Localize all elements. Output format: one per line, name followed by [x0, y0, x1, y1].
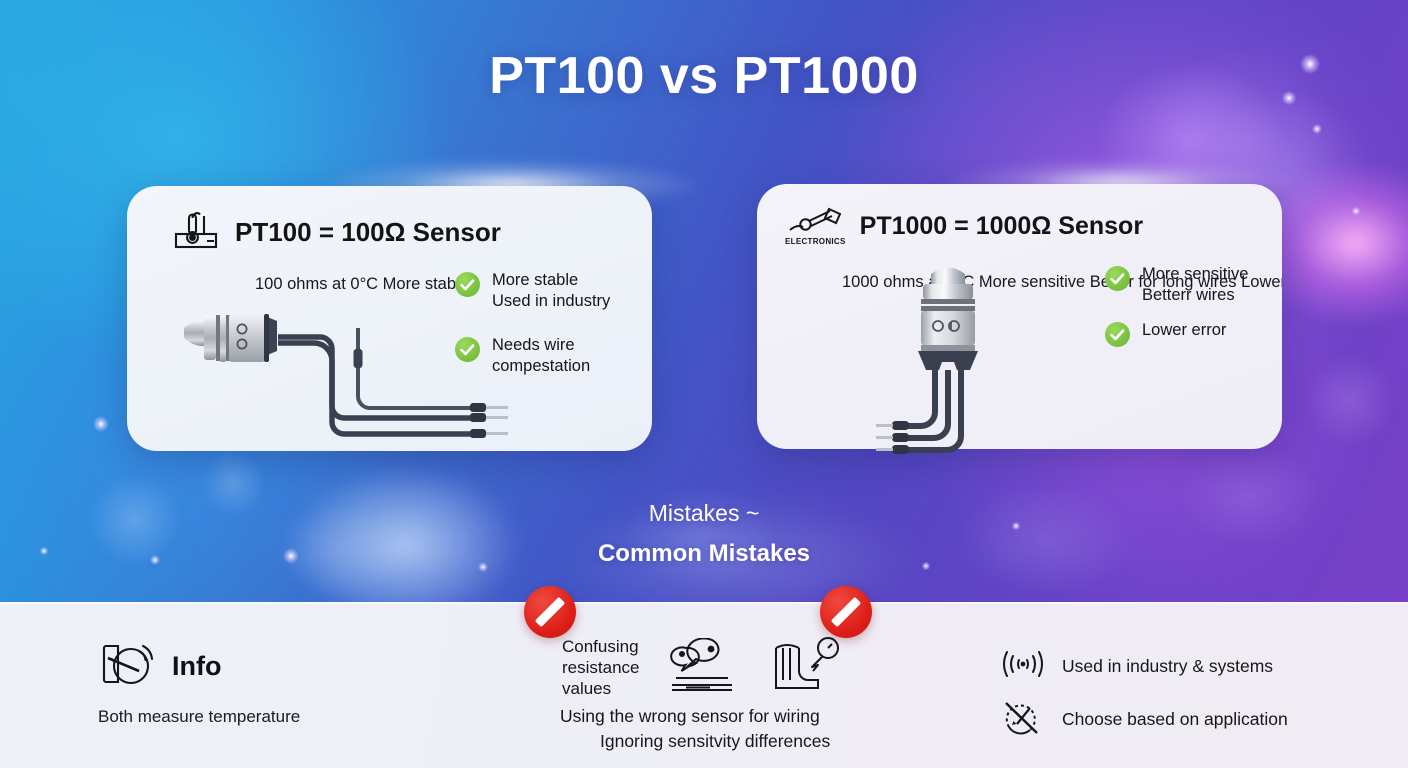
info-block: Info Both measure temperature [98, 640, 300, 727]
bottom-right-row: Choose based on application [1000, 698, 1288, 741]
check-icon [1105, 322, 1130, 347]
prohibition-badge-icon [524, 586, 576, 638]
info-subtitle: Both measure temperature [98, 707, 300, 727]
mistake-line-2: Ignoring sensitvity differences [600, 731, 830, 752]
card-pt100-title: PT100 = 100Ω Sensor [235, 217, 501, 248]
pt1000-sensor-illustration [876, 262, 1096, 467]
pt100-sensor-illustration [178, 310, 538, 455]
sparkle-dot [90, 413, 112, 435]
card-pt1000-header: ELECTRONICS PT1000 = 1000Ω Sensor [785, 206, 1143, 246]
bullet-item: More stable Used in industry [455, 270, 610, 312]
mistakes-heading: Mistakes ~ [0, 500, 1408, 527]
electronics-logo-icon: ELECTRONICS [785, 206, 846, 246]
speech-bubbles-icon [668, 638, 748, 705]
thermometer-probe-icon [171, 208, 221, 257]
bottom-right-block: Used in industry & systems Choose based … [1000, 648, 1288, 754]
card-pt1000-title: PT1000 = 1000Ω Sensor [860, 212, 1143, 241]
card-pt1000-bullets: More sensitive Betterr wires Lower error [1105, 264, 1248, 347]
bokeh-circle [1290, 340, 1408, 460]
mistake-line-1: Using the wrong sensor for wiring [560, 706, 820, 727]
signal-waves-icon [1000, 648, 1046, 685]
card-pt100-header: PT100 = 100Ω Sensor [171, 208, 501, 257]
prohibition-badge-icon [820, 586, 872, 638]
confusing-resistance-note: Confusing resistance values [562, 636, 639, 699]
bottom-right-text: Choose based on application [1062, 709, 1288, 730]
check-icon [455, 272, 480, 297]
info-row: Info [98, 640, 300, 693]
card-pt100-spec: 100 ohms at 0°C More stable [255, 274, 469, 296]
bottom-right-row: Used in industry & systems [1000, 648, 1288, 685]
bottom-right-text: Used in industry & systems [1062, 656, 1273, 677]
gauge-meter-icon [98, 640, 160, 693]
bullet-text: Lower error [1142, 320, 1226, 341]
infographic-stage: PT100 vs PT1000 PT100 = 100Ω Sensor 100 … [0, 0, 1408, 768]
info-title: Info [172, 651, 221, 682]
mistakes-section: Mistakes ~ Common Mistakes [0, 500, 1408, 568]
bullet-text: More sensitive Betterr wires [1142, 264, 1248, 306]
electronics-logo-label: ELECTRONICS [785, 237, 846, 246]
check-icon [1105, 266, 1130, 291]
page-title: PT100 vs PT1000 [0, 46, 1408, 106]
common-mistakes-heading: Common Mistakes [0, 540, 1408, 568]
bullet-text: More stable Used in industry [492, 270, 610, 312]
bullet-item: Lower error [1105, 320, 1248, 347]
bullet-item: More sensitive Betterr wires [1105, 264, 1248, 306]
bottom-bar-divider [0, 602, 1408, 604]
sparkle-dot [1310, 122, 1324, 136]
no-gauge-icon [1000, 698, 1046, 741]
wiring-gauge-icon [770, 636, 842, 705]
